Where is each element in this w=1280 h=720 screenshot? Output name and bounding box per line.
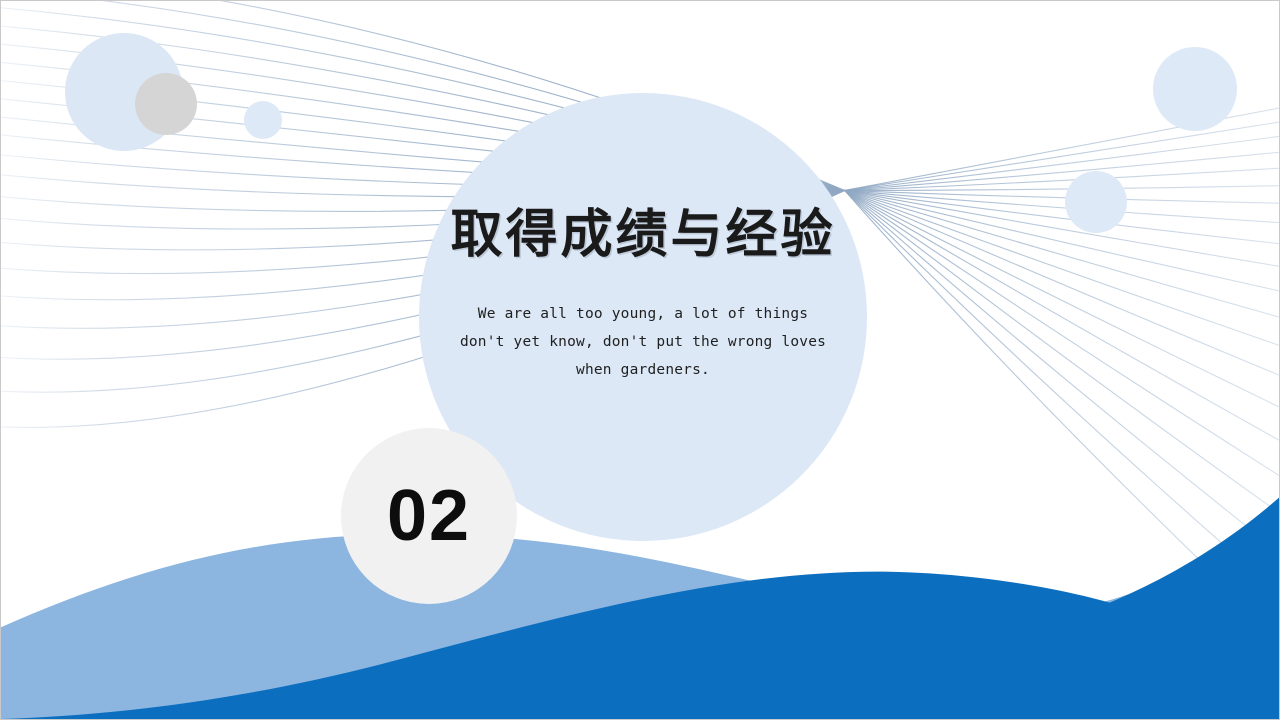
- decor-circle-top-right: [1153, 47, 1237, 131]
- page-title: 取得成绩与经验: [419, 206, 867, 266]
- decor-circle-gray: [135, 73, 197, 135]
- slide-text-block: 取得成绩与经验 We are all too young, a lot of t…: [419, 206, 867, 384]
- section-number-badge: 02: [341, 428, 517, 604]
- slide-subtitle: We are all too young, a lot of things do…: [457, 300, 829, 384]
- decor-circle-mid-right: [1065, 171, 1127, 233]
- presentation-slide: 02 取得成绩与经验 We are all too young, a lot o…: [0, 0, 1280, 720]
- decor-circle-small-blue: [244, 101, 282, 139]
- section-number-text: 02: [387, 480, 471, 552]
